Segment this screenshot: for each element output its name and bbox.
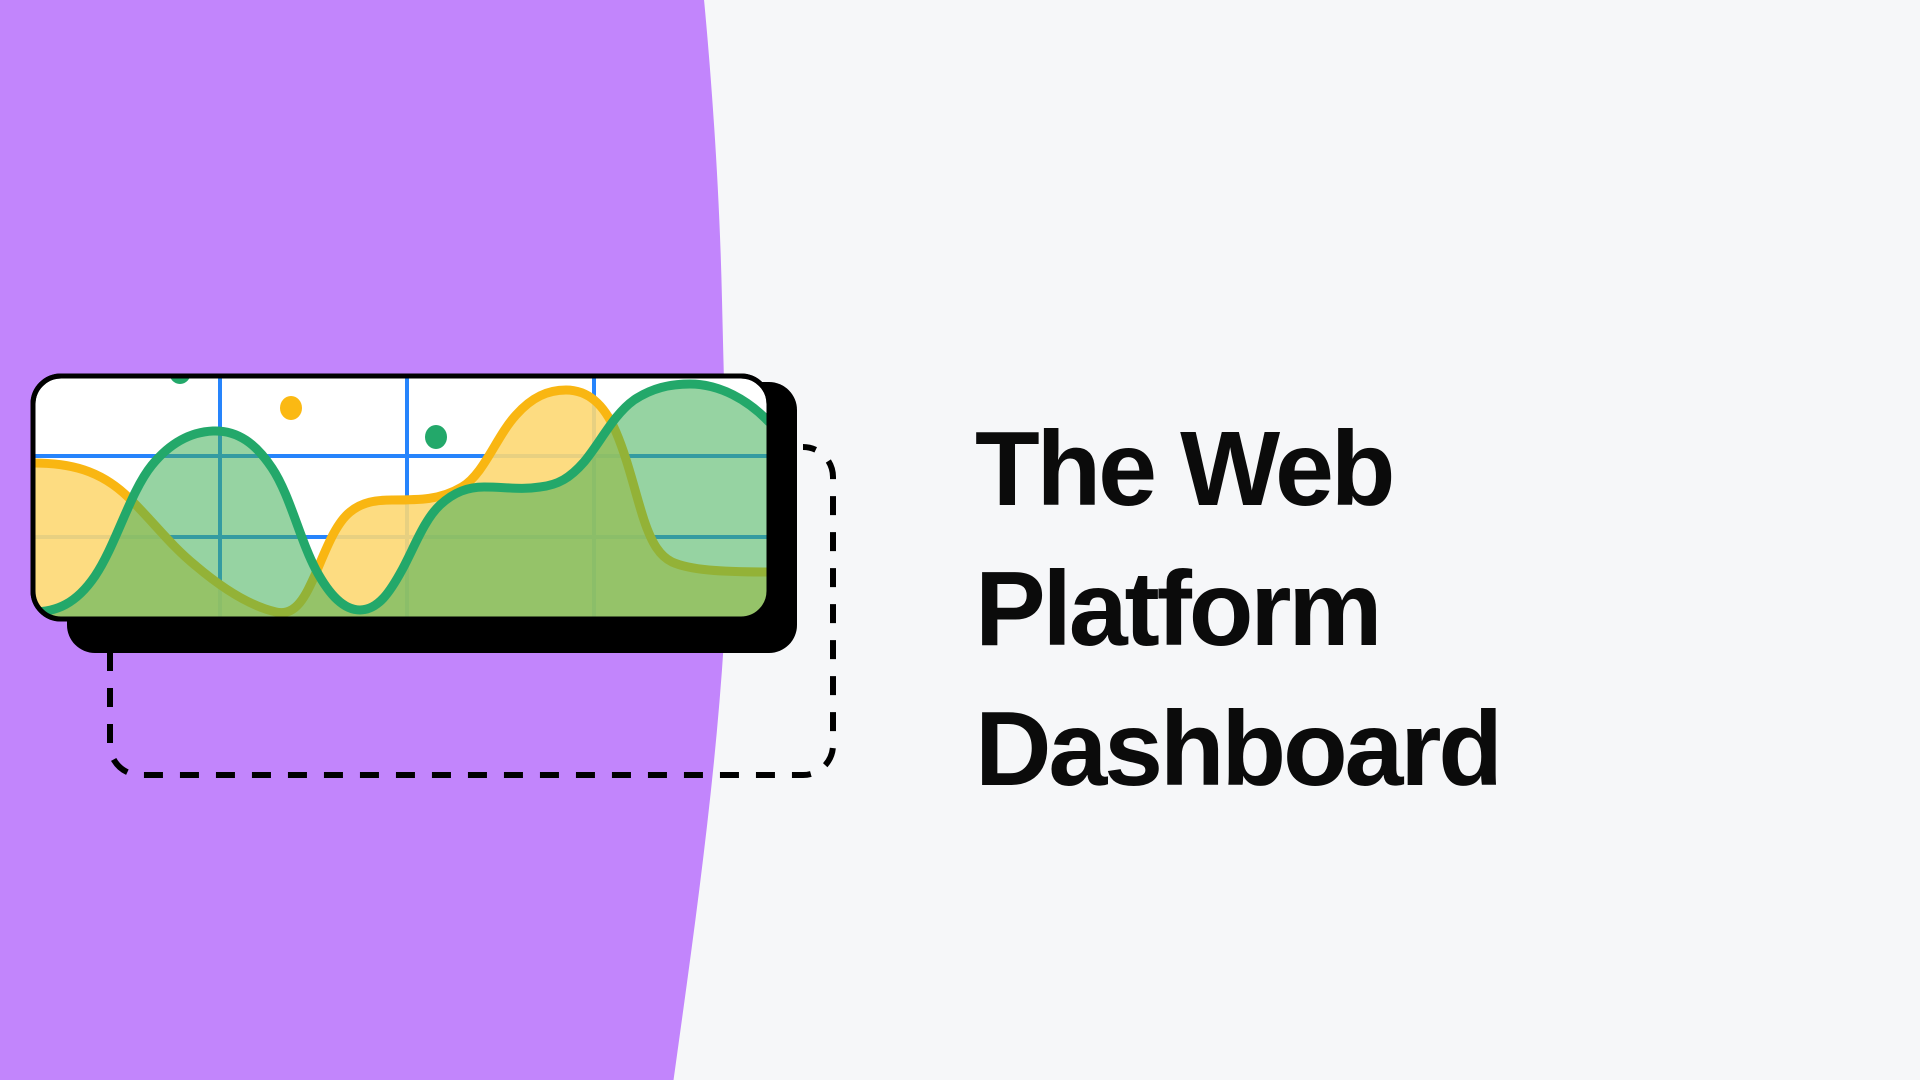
hero-slide: The Web Platform Dashboard xyxy=(0,0,1920,1080)
data-point-yellow-1[interactable] xyxy=(280,396,302,420)
data-point-green-2[interactable] xyxy=(425,425,447,449)
page-title: The Web Platform Dashboard xyxy=(975,400,1735,820)
